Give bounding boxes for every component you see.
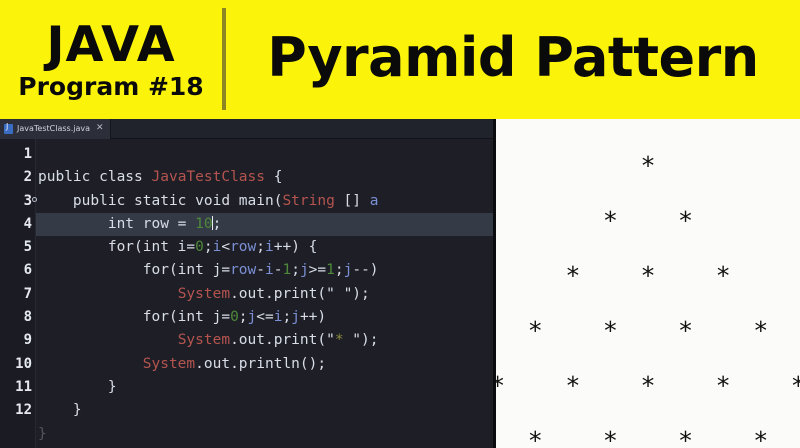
code-lines[interactable]: public class JavaTestClass { public stat… <box>36 139 493 448</box>
console-output-panel: * * * * * * * * * * * * * * * * * * * * … <box>496 119 800 448</box>
code-token: --) <box>352 262 378 278</box>
code-line-8: for(int j=0;j<=i;j++) <box>36 306 493 329</box>
banner-title: JAVA <box>46 20 175 70</box>
line-number: 7 <box>0 283 35 306</box>
code-line-6: for(int j=row-i-1;j>=1;j--) <box>36 259 493 282</box>
code-line-2: public class JavaTestClass { <box>36 166 493 189</box>
code-line-9: System.out.print("* "); <box>36 329 493 352</box>
editor-tab-javatestclass[interactable]: JavaTestClass.java ✕ <box>0 119 111 139</box>
code-token-number: 1 <box>326 262 335 278</box>
line-number: 6 <box>0 259 35 282</box>
code-token: for(int j= <box>38 309 230 325</box>
close-icon[interactable]: ✕ <box>94 124 104 133</box>
code-token-star: * <box>335 332 344 348</box>
banner-left-block: JAVA Program #18 <box>0 0 222 119</box>
code-token-type: String <box>282 193 334 209</box>
code-token: >= <box>309 262 326 278</box>
code-token: "); <box>344 332 379 348</box>
code-token: .out.print(" <box>230 332 335 348</box>
code-token-system: System <box>143 356 195 372</box>
code-token-classname: JavaTestClass <box>152 169 266 185</box>
code-token: <= <box>256 309 273 325</box>
code-token: < <box>221 239 230 255</box>
line-number: 1 <box>0 143 35 166</box>
pyramid-row: * * * * <box>518 303 779 358</box>
pyramid-row: * <box>630 138 665 193</box>
code-line-5: for(int i=0;i<row;i++) { <box>36 236 493 259</box>
code-token: ; <box>282 309 291 325</box>
code-token: } <box>38 402 82 418</box>
code-token <box>38 332 178 348</box>
code-token-number: 0 <box>195 239 204 255</box>
line-number: 11 <box>0 376 35 399</box>
editor-body[interactable]: 1 2 3 4 5 6 7 8 9 10 11 12 public class … <box>0 139 493 448</box>
line-number-gutter: 1 2 3 4 5 6 7 8 9 10 11 12 <box>0 139 36 448</box>
code-token: ; <box>335 262 344 278</box>
code-token: for(int j= <box>38 262 230 278</box>
code-token: for(int i= <box>38 239 195 255</box>
code-token: public class <box>38 169 152 185</box>
code-token: ; <box>239 309 248 325</box>
code-token: ; <box>213 216 222 232</box>
pyramid-row: * * * <box>555 248 740 303</box>
code-token: - <box>256 262 265 278</box>
java-file-icon <box>4 124 13 134</box>
code-token-var: i <box>265 262 274 278</box>
code-token: ++) <box>300 309 326 325</box>
code-token-system: System <box>178 332 230 348</box>
code-token: } <box>38 426 47 442</box>
pyramid-output: * * * * * * * * * * * * * * * * * * * * … <box>496 119 800 448</box>
editor-tab-bar: JavaTestClass.java ✕ <box>0 119 493 139</box>
line-number: 9 <box>0 329 35 352</box>
line-number: 2 <box>0 166 35 189</box>
banner-heading: Pyramid Pattern <box>267 29 758 87</box>
line-number: 3 <box>0 190 35 213</box>
code-line-10: System.out.println(); <box>36 353 493 376</box>
code-token-var: j <box>291 309 300 325</box>
line-number: 12 <box>0 399 35 422</box>
code-line-3: public static void main(String [] a <box>36 190 493 213</box>
code-line-13: } <box>36 423 493 446</box>
content-split: JavaTestClass.java ✕ 1 2 3 4 5 6 7 8 9 1… <box>0 119 800 448</box>
code-line-7: System.out.print(" "); <box>36 283 493 306</box>
code-line-4: int row = 10; <box>36 213 493 236</box>
code-token: ; <box>256 239 265 255</box>
line-number: 8 <box>0 306 35 329</box>
pyramid-row: * * * * * * <box>496 413 800 448</box>
code-token: ; <box>291 262 300 278</box>
line-number: 10 <box>0 353 35 376</box>
line-number-text: 3 <box>24 193 32 209</box>
code-token-var: i <box>265 239 274 255</box>
code-token <box>38 356 143 372</box>
code-token-number: 1 <box>282 262 291 278</box>
code-token: ; <box>204 239 213 255</box>
code-token: .out.println(); <box>195 356 326 372</box>
code-token-param: a <box>370 193 379 209</box>
screenshot-root: JAVA Program #18 Pyramid Pattern JavaTes… <box>0 0 800 448</box>
code-line-1 <box>36 143 493 166</box>
code-token: public static void main( <box>38 193 282 209</box>
code-token-number: 0 <box>230 309 239 325</box>
line-number: 4 <box>0 213 35 236</box>
line-number: 5 <box>0 236 35 259</box>
code-editor-panel: JavaTestClass.java ✕ 1 2 3 4 5 6 7 8 9 1… <box>0 119 496 448</box>
pyramid-row: * * * * * <box>496 358 800 413</box>
code-token-var: row <box>230 262 256 278</box>
code-token: ++) { <box>274 239 318 255</box>
banner-subtitle: Program #18 <box>18 73 203 101</box>
code-token-number: 10 <box>195 216 212 232</box>
title-banner: JAVA Program #18 Pyramid Pattern <box>0 0 800 119</box>
code-token: { <box>265 169 282 185</box>
code-token-system: System <box>178 286 230 302</box>
code-line-11: } <box>36 376 493 399</box>
code-token: .out.print(" "); <box>230 286 370 302</box>
code-line-12: } <box>36 399 493 422</box>
editor-tab-label: JavaTestClass.java <box>17 124 90 133</box>
banner-right-block: Pyramid Pattern <box>226 0 800 119</box>
code-token-var: j <box>248 309 257 325</box>
code-token-var: j <box>300 262 309 278</box>
pyramid-row: * * <box>593 193 703 248</box>
code-token-var: row <box>230 239 256 255</box>
code-token: [] <box>335 193 370 209</box>
code-token <box>38 286 178 302</box>
code-token: int row = <box>38 216 195 232</box>
code-token: } <box>38 379 117 395</box>
